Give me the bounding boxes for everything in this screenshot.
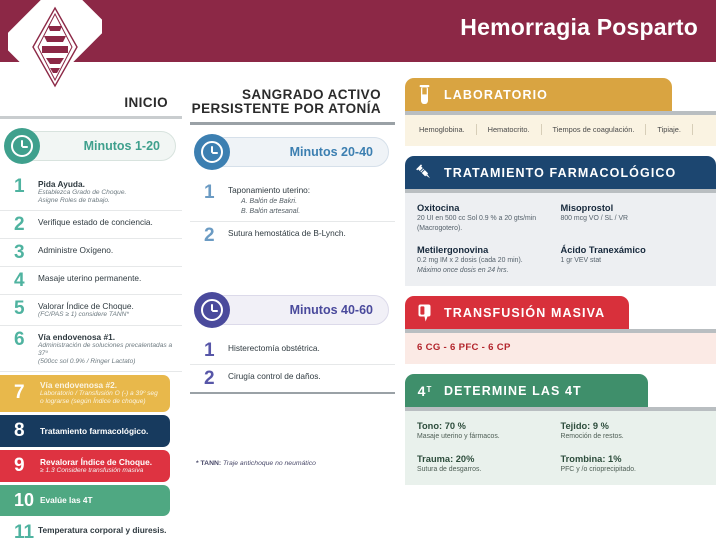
4t-badge-icon: 4T — [415, 380, 434, 402]
list-item[interactable]: 2 Cirugía control de daños. — [190, 365, 395, 394]
timer-pill: Minutos 40-60 — [204, 295, 389, 325]
drug-entry: Ácido Tranexámico 1 gr VEV stat — [561, 244, 705, 275]
step-number: 1 — [204, 342, 228, 359]
blood-bag-icon — [415, 302, 434, 324]
4t-entry: Trauma: 20% Sutura de desgarros. — [417, 453, 561, 475]
drug-name: Metilergonovina — [417, 244, 561, 256]
timer-label: Minutos 1-20 — [84, 139, 160, 153]
4t-entry: Tejido: 9 % Remoción de restos. — [561, 420, 705, 442]
card-header: TRATAMIENTO FARMACOLÓGICO — [405, 156, 716, 189]
card-title: TRANSFUSIÓN MASIVA — [444, 306, 605, 320]
step-title: Taponamiento uterino: — [228, 185, 387, 195]
step-title: Vía endovenosa #1. — [38, 332, 174, 342]
drug-grid: Oxitocina 20 UI en 500 cc Sol 0.9 % a 20… — [417, 202, 704, 275]
footnote-text: Traje antichoque no neumático — [221, 460, 316, 467]
sangrado-heading-line2: PERSISTENTE POR ATONÍA — [190, 102, 395, 116]
clock-icon — [194, 134, 230, 170]
drug-dose: 800 mcg VO / SL / VR — [561, 214, 705, 224]
column-inicio: INICIO Minutos 1-20 1 Pida Ayuda. Establ… — [0, 95, 182, 546]
column-sangrado-activo: SANGRADO ACTIVO PERSISTENTE POR ATONÍA M… — [190, 88, 395, 467]
footnote-marker: * TANN: — [196, 460, 221, 467]
step-number: 5 — [14, 300, 38, 317]
drug-dose: 20 UI en 500 cc Sol 0.9 % a 20 gts/min (… — [417, 214, 561, 233]
step-number: 10 — [14, 490, 40, 511]
step-detail: o lograrse (según Índice de choque) — [40, 398, 164, 406]
4t-desc: Sutura de desgarros. — [417, 465, 561, 475]
sub-option: A. Balón de Bakri. — [241, 197, 387, 207]
card-header: LABORATORIO — [405, 78, 672, 111]
clock-icon — [194, 292, 230, 328]
inicio-step-list: 1 Pida Ayuda. Establezca Grado de Choque… — [0, 173, 182, 546]
column-cards: LABORATORIO Hemoglobina. Hematocrito. Ti… — [405, 78, 716, 495]
card-body: 6 CG - 6 PFC - 6 CP — [405, 333, 716, 364]
lab-item: Tiempos de coagulación. — [542, 124, 647, 135]
syringe-icon — [415, 162, 434, 184]
list-item[interactable]: 11 Temperatura corporal y diuresis. — [0, 519, 182, 546]
step-title: Tratamiento farmacológico. — [40, 426, 164, 436]
list-item[interactable]: 2 Sutura hemostática de B-Lynch. — [190, 222, 395, 249]
step-title: Evalúe las 4T — [40, 495, 164, 505]
step-number: 2 — [204, 227, 228, 244]
4t-name: Trauma: 20% — [417, 453, 561, 465]
drug-entry: Misoprostol 800 mcg VO / SL / VR — [561, 202, 705, 233]
drug-entry: Oxitocina 20 UI en 500 cc Sol 0.9 % a 20… — [417, 202, 561, 233]
4t-name: Tono: 70 % — [417, 420, 561, 432]
step-title: Temperatura corporal y diuresis. — [38, 525, 174, 535]
lab-item: Hemoglobina. — [417, 124, 477, 135]
card-body: Oxitocina 20 UI en 500 cc Sol 0.9 % a 20… — [405, 193, 716, 286]
step-number: 1 — [204, 184, 228, 201]
divider — [0, 116, 182, 119]
sangrado-step-list-2: 1 Histerectomía obstétrica. 2 Cirugía co… — [190, 337, 395, 394]
step-title: Masaje uterino permanente. — [38, 273, 174, 283]
card-determine-4t: 4T DETERMINE LAS 4T Tono: 70 % Masaje ut… — [405, 374, 716, 485]
4t-grid: Tono: 70 % Masaje uterino y fármacos. Te… — [417, 420, 704, 474]
list-item[interactable]: 1 Pida Ayuda. Establezca Grado de Choque… — [0, 173, 182, 211]
step-number: 8 — [14, 420, 40, 442]
list-item-highlight[interactable]: 10 Evalúe las 4T — [0, 485, 170, 516]
step-number: 2 — [14, 216, 38, 233]
sub-option-list: A. Balón de Bakri. B. Balón artesanal. — [241, 197, 387, 216]
drug-name: Misoprostol — [561, 202, 705, 214]
sangrado-step-list-1: 1 Taponamiento uterino: A. Balón de Bakr… — [190, 179, 395, 249]
step-detail: Asigne Roles de trabajo. — [38, 197, 174, 205]
lab-item: Tipiaje. — [646, 124, 693, 135]
step-title: Pida Ayuda. — [38, 179, 174, 189]
step-number: 4 — [14, 272, 38, 289]
step-title: Histerectomía obstétrica. — [228, 343, 387, 353]
card-header: 4T DETERMINE LAS 4T — [405, 374, 648, 407]
step-number: 3 — [14, 244, 38, 261]
step-number: 2 — [204, 370, 228, 387]
4t-name: Trombina: 1% — [561, 453, 705, 465]
list-item[interactable]: 2 Verifique estado de conciencia. — [0, 211, 182, 239]
card-title: TRATAMIENTO FARMACOLÓGICO — [444, 166, 676, 180]
sangrado-timer-20-40: Minutos 20-40 — [190, 134, 395, 174]
step-number: 11 — [14, 524, 38, 541]
card-title: DETERMINE LAS 4T — [444, 384, 582, 398]
logo-emblem-icon — [30, 6, 80, 88]
step-detail: (FC/PAS ≥ 1) considere TANN* — [38, 311, 174, 319]
card-header: TRANSFUSIÓN MASIVA — [405, 296, 629, 329]
drug-name: Ácido Tranexámico — [561, 244, 705, 256]
test-tube-icon — [415, 84, 434, 106]
step-number: 9 — [14, 455, 40, 477]
list-item[interactable]: 4 Masaje uterino permanente. — [0, 267, 182, 295]
list-item[interactable]: 3 Administre Oxígeno. — [0, 239, 182, 267]
transfusion-value: 6 CG - 6 PFC - 6 CP — [417, 342, 704, 353]
step-title: Sutura hemostática de B-Lynch. — [228, 228, 387, 238]
card-transfusion-masiva: TRANSFUSIÓN MASIVA 6 CG - 6 PFC - 6 CP — [405, 296, 716, 364]
4t-entry: Trombina: 1% PFC y /o crioprecipitado. — [561, 453, 705, 475]
divider — [190, 122, 395, 125]
card-tratamiento-farmacologico: TRATAMIENTO FARMACOLÓGICO Oxitocina 20 U… — [405, 156, 716, 286]
logo — [8, 0, 102, 100]
step-number: 7 — [14, 382, 40, 404]
step-title: Verifique estado de conciencia. — [38, 217, 174, 227]
step-title: Vía endovenosa #2. — [40, 380, 164, 390]
drug-name: Oxitocina — [417, 202, 561, 214]
inicio-timer: Minutos 1-20 — [0, 128, 182, 168]
4t-entry: Tono: 70 % Masaje uterino y fármacos. — [417, 420, 561, 442]
4t-name: Tejido: 9 % — [561, 420, 705, 432]
card-title: LABORATORIO — [444, 88, 548, 102]
badge-superscript: T — [427, 383, 432, 397]
drug-dose: 0.2 mg IM x 2 dosis (cada 20 min). — [417, 256, 561, 266]
list-item[interactable]: 1 Taponamiento uterino: A. Balón de Bakr… — [190, 179, 395, 222]
list-item-highlight[interactable]: 7 Vía endovenosa #2. Laboratorio / Trans… — [0, 375, 170, 411]
top-banner: Hemorragia Posparto — [0, 0, 716, 62]
list-item-highlight[interactable]: 8 Tratamiento farmacológico. — [0, 415, 170, 447]
lab-item: Hematocrito. — [477, 124, 542, 135]
4t-desc: Remoción de restos. — [561, 432, 705, 442]
page-title: Hemorragia Posparto — [460, 14, 698, 41]
step-title: Valorar Índice de Choque. — [38, 301, 174, 311]
step-detail: Administración de soluciones precalentad… — [38, 342, 174, 358]
step-detail: ≥ 1.3 Considere transfusión masiva — [40, 467, 164, 475]
step-title: Administre Oxígeno. — [38, 245, 174, 255]
drug-dose: 1 gr VEV stat — [561, 256, 705, 266]
4t-desc: PFC y /o crioprecipitado. — [561, 465, 705, 475]
sangrado-heading-line1: SANGRADO ACTIVO — [190, 88, 395, 102]
drug-note: Máximo once dosis en 24 hrs. — [417, 266, 561, 276]
step-number: 6 — [14, 331, 38, 348]
badge-number: 4 — [418, 383, 426, 399]
list-item[interactable]: 5 Valorar Índice de Choque. (FC/PAS ≥ 1)… — [0, 295, 182, 325]
clock-icon — [4, 128, 40, 164]
sub-option: B. Balón artesanal. — [241, 207, 387, 217]
drug-entry: Metilergonovina 0.2 mg IM x 2 dosis (cad… — [417, 244, 561, 275]
step-detail: Establezca Grado de Choque. — [38, 189, 174, 197]
card-body: Hemoglobina. Hematocrito. Tiempos de coa… — [405, 115, 716, 146]
step-title: Revalorar Índice de Choque. — [40, 457, 164, 467]
footnote: * TANN: Traje antichoque no neumático — [190, 460, 395, 467]
step-detail: (500cc sol 0.9% / Ringer Lactato) — [38, 358, 174, 366]
card-body: Tono: 70 % Masaje uterino y fármacos. Te… — [405, 411, 716, 485]
timer-label: Minutos 40-60 — [290, 303, 373, 317]
timer-label: Minutos 20-40 — [290, 145, 373, 159]
step-number: 1 — [14, 178, 38, 195]
lab-item-list: Hemoglobina. Hematocrito. Tiempos de coa… — [417, 124, 704, 135]
timer-pill: Minutos 20-40 — [204, 137, 389, 167]
card-laboratorio: LABORATORIO Hemoglobina. Hematocrito. Ti… — [405, 78, 716, 146]
list-item[interactable]: 6 Vía endovenosa #1. Administración de s… — [0, 326, 182, 373]
step-title: Cirugía control de daños. — [228, 371, 387, 381]
list-item[interactable]: 1 Histerectomía obstétrica. — [190, 337, 395, 365]
sangrado-timer-40-60: Minutos 40-60 — [190, 292, 395, 332]
4t-desc: Masaje uterino y fármacos. — [417, 432, 561, 442]
list-item-highlight[interactable]: 9 Revalorar Índice de Choque. ≥ 1.3 Cons… — [0, 450, 170, 482]
